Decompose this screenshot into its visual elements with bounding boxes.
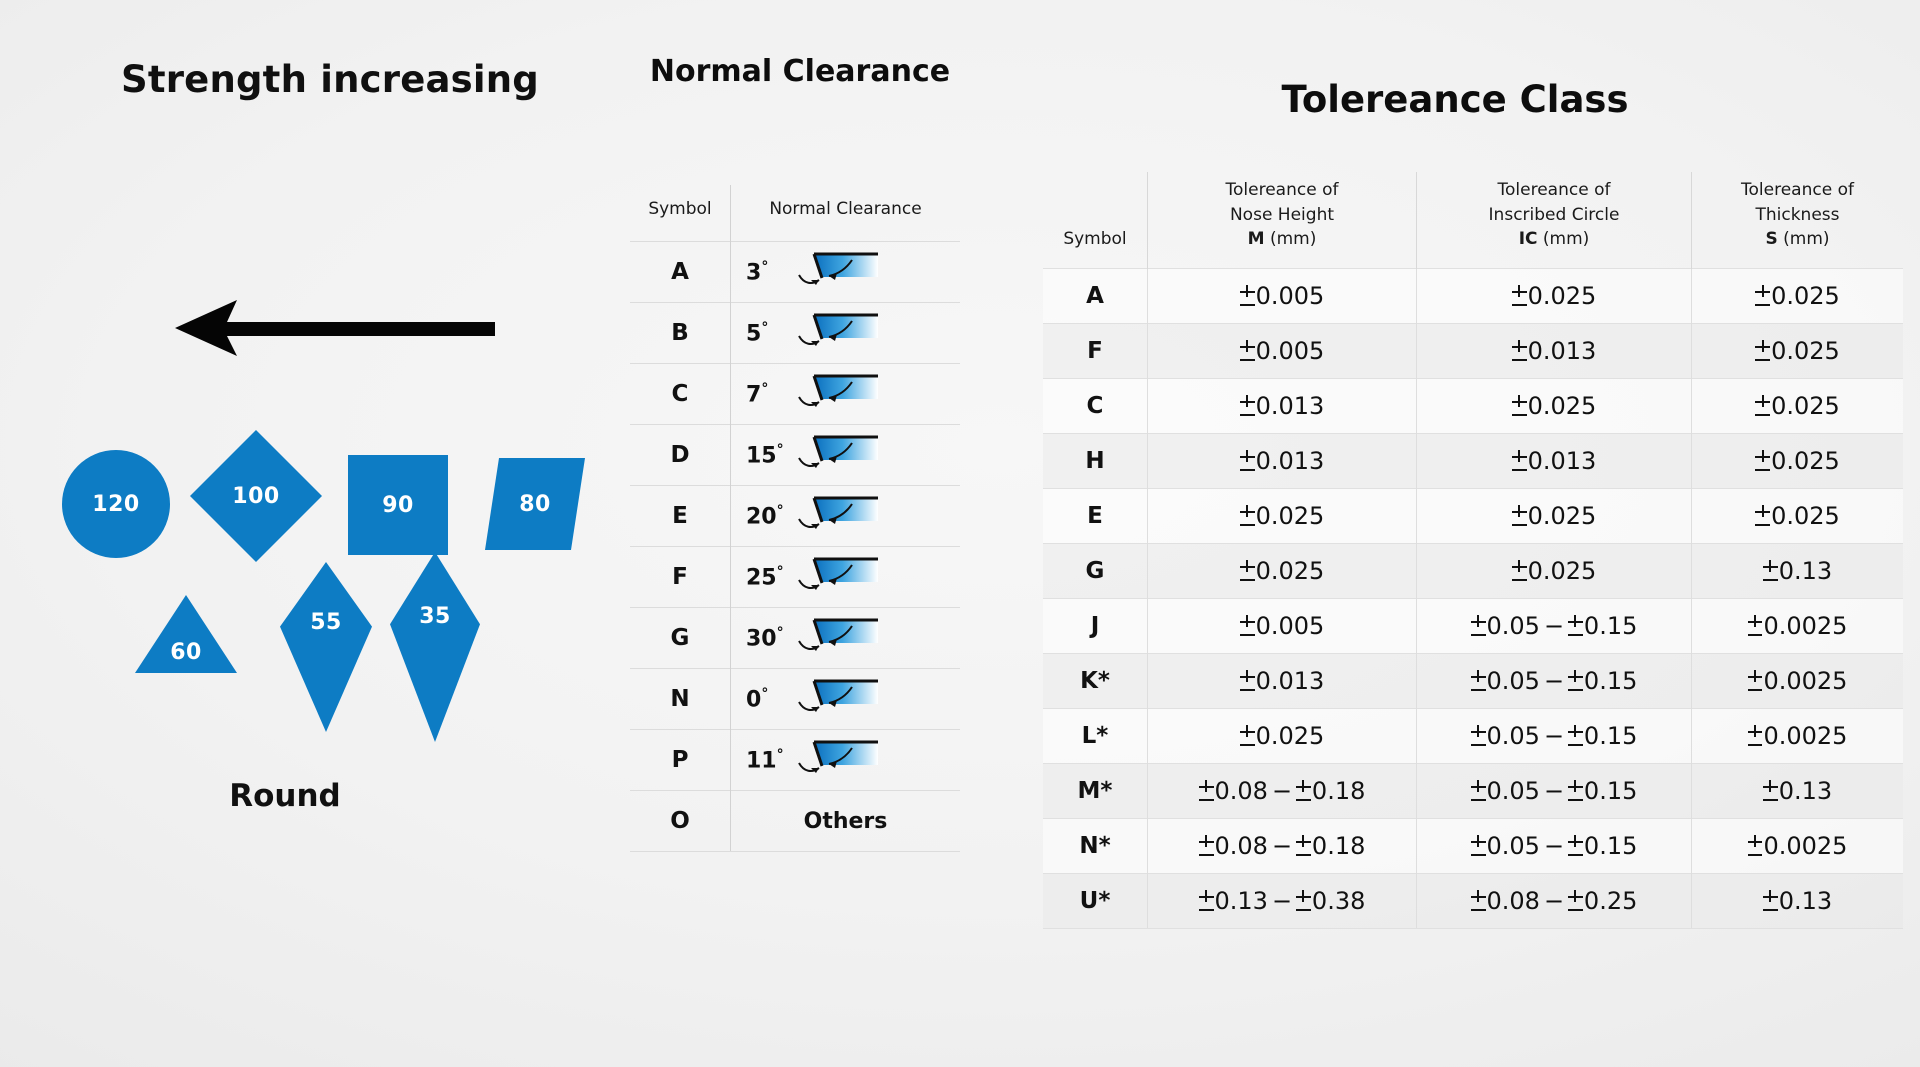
plus-minus-icon — [1512, 504, 1527, 528]
normal-clearance-panel: Normal Clearance Symbol Normal Clearance… — [660, 0, 1020, 1067]
table-row: B5° — [630, 303, 960, 364]
tolerance-inscribed-circle-cell: 0.05−0.15 — [1417, 708, 1692, 763]
shape-rhombus-55-fill — [280, 562, 372, 732]
shape-parallelogram-80: 80 — [485, 458, 585, 550]
tolerance-header-nose-height: Tolereance of Nose Height M (mm) — [1148, 172, 1417, 268]
clearance-value-cell: 25° — [731, 547, 961, 608]
round-caption: Round — [160, 778, 410, 814]
table-row: G0.0250.0250.13 — [1043, 543, 1903, 598]
plus-minus-icon — [1512, 284, 1527, 308]
tolerance-thickness-cell: 0.0025 — [1692, 653, 1904, 708]
header-line-1: Tolereance of — [1741, 180, 1854, 200]
clearance-header-value: Normal Clearance — [731, 185, 961, 242]
tolerance-header-thickness: Tolereance of Thickness S (mm) — [1692, 172, 1904, 268]
tolerance-symbol-cell: G — [1043, 543, 1148, 598]
table-row: C0.0130.0250.025 — [1043, 378, 1903, 433]
plus-minus-icon — [1199, 779, 1214, 803]
plus-minus-icon — [1748, 614, 1763, 638]
plus-minus-icon — [1755, 339, 1770, 363]
tolerance-symbol-cell: F — [1043, 323, 1148, 378]
plus-minus-icon — [1568, 889, 1583, 913]
plus-minus-icon — [1755, 284, 1770, 308]
tolerance-inscribed-circle-cell: 0.025 — [1417, 488, 1692, 543]
tolerance-nose-height-cell: 0.025 — [1148, 543, 1417, 598]
clearance-symbol-cell: G — [630, 608, 731, 669]
clearance-angle-icon — [798, 735, 882, 785]
tolerance-inscribed-circle-cell: 0.025 — [1417, 378, 1692, 433]
table-row: G30° — [630, 608, 960, 669]
shape-rhombus-35: 35 — [390, 552, 480, 742]
range-dash: − — [1540, 777, 1568, 805]
tolerance-symbol-cell: K* — [1043, 653, 1148, 708]
tolerance-symbol-cell: H — [1043, 433, 1148, 488]
range-dash: − — [1268, 777, 1296, 805]
header-line-2: Nose Height — [1230, 205, 1334, 225]
plus-minus-icon — [1199, 834, 1214, 858]
table-row: OOthers — [630, 791, 960, 852]
shape-square-90-fill — [348, 455, 448, 555]
table-header-row: Symbol Tolereance of Nose Height M (mm) … — [1043, 172, 1903, 268]
plus-minus-icon — [1512, 449, 1527, 473]
tolerance-inscribed-circle-cell: 0.05−0.15 — [1417, 818, 1692, 873]
range-dash: − — [1540, 722, 1568, 750]
plus-minus-icon — [1763, 779, 1778, 803]
clearance-angle-value: 11° — [746, 747, 798, 773]
table-header-row: Symbol Normal Clearance — [630, 185, 960, 242]
strength-increasing-title: Strength increasing — [0, 58, 660, 101]
plus-minus-icon — [1755, 394, 1770, 418]
tolerance-symbol-cell: M* — [1043, 763, 1148, 818]
tolerance-class-table: Symbol Tolereance of Nose Height M (mm) … — [1043, 172, 1903, 929]
clearance-angle-icon — [798, 552, 882, 602]
table-row: F25° — [630, 547, 960, 608]
header-unit: (mm) — [1543, 229, 1589, 249]
clearance-value-cell: 5° — [731, 303, 961, 364]
table-row: A0.0050.0250.025 — [1043, 268, 1903, 323]
clearance-angle-icon — [798, 308, 882, 358]
header-line-2: Thickness — [1755, 205, 1839, 225]
header-code: M — [1248, 229, 1265, 249]
tolerance-thickness-cell: 0.025 — [1692, 323, 1904, 378]
plus-minus-icon — [1748, 834, 1763, 858]
clearance-others-value: Others — [732, 809, 959, 834]
clearance-symbol-cell: C — [630, 364, 731, 425]
clearance-value-cell: Others — [731, 791, 961, 852]
plus-minus-icon — [1512, 339, 1527, 363]
tolerance-nose-height-cell: 0.013 — [1148, 378, 1417, 433]
plus-minus-icon — [1512, 559, 1527, 583]
plus-minus-icon — [1240, 669, 1255, 693]
tolerance-nose-height-cell: 0.013 — [1148, 653, 1417, 708]
range-dash: − — [1540, 667, 1568, 695]
clearance-value-cell: 20° — [731, 486, 961, 547]
tolerance-thickness-cell: 0.025 — [1692, 268, 1904, 323]
tolerance-thickness-cell: 0.0025 — [1692, 598, 1904, 653]
range-dash: − — [1268, 887, 1296, 915]
clearance-angle-icon — [798, 247, 882, 297]
tolerance-thickness-cell: 0.025 — [1692, 378, 1904, 433]
tolerance-inscribed-circle-cell: 0.013 — [1417, 323, 1692, 378]
clearance-value-cell: 0° — [731, 669, 961, 730]
plus-minus-icon — [1240, 559, 1255, 583]
tolerance-thickness-cell: 0.025 — [1692, 433, 1904, 488]
clearance-symbol-cell: D — [630, 425, 731, 486]
tolerance-nose-height-cell: 0.08−0.18 — [1148, 763, 1417, 818]
header-unit: (mm) — [1270, 229, 1316, 249]
tolerance-nose-height-cell: 0.005 — [1148, 598, 1417, 653]
clearance-symbol-cell: B — [630, 303, 731, 364]
clearance-value-cell: 30° — [731, 608, 961, 669]
plus-minus-icon — [1240, 284, 1255, 308]
header-code: IC — [1519, 229, 1538, 249]
plus-minus-icon — [1471, 834, 1486, 858]
clearance-value-cell: 3° — [731, 242, 961, 303]
tolerance-thickness-cell: 0.0025 — [1692, 818, 1904, 873]
plus-minus-icon — [1568, 834, 1583, 858]
tolerance-inscribed-circle-cell: 0.025 — [1417, 268, 1692, 323]
clearance-angle-icon — [798, 491, 882, 541]
plus-minus-icon — [1240, 449, 1255, 473]
tolerance-thickness-cell: 0.13 — [1692, 543, 1904, 598]
tolerance-symbol-cell: A — [1043, 268, 1148, 323]
range-dash: − — [1540, 612, 1568, 640]
tolerance-inscribed-circle-cell: 0.025 — [1417, 543, 1692, 598]
clearance-angle-value: 5° — [746, 320, 798, 346]
table-row: M*0.08−0.180.05−0.150.13 — [1043, 763, 1903, 818]
table-row: E0.0250.0250.025 — [1043, 488, 1903, 543]
tolerance-class-panel: Tolereance Class Symbol Tolereance of No… — [1035, 0, 1920, 1067]
plus-minus-icon — [1763, 889, 1778, 913]
shape-parallelogram-80-fill — [485, 458, 585, 550]
plus-minus-icon — [1471, 889, 1486, 913]
plus-minus-icon — [1471, 669, 1486, 693]
plus-minus-icon — [1296, 779, 1311, 803]
tolerance-symbol-cell: C — [1043, 378, 1148, 433]
tolerance-header-inscribed-circle: Tolereance of Inscribed Circle IC (mm) — [1417, 172, 1692, 268]
table-row: A3° — [630, 242, 960, 303]
table-row: D15° — [630, 425, 960, 486]
tolerance-nose-height-cell: 0.005 — [1148, 323, 1417, 378]
clearance-angle-icon — [798, 613, 882, 663]
tolerance-symbol-cell: E — [1043, 488, 1148, 543]
header-unit: (mm) — [1783, 229, 1829, 249]
tolerance-nose-height-cell: 0.13−0.38 — [1148, 873, 1417, 928]
clearance-value-cell: 15° — [731, 425, 961, 486]
plus-minus-icon — [1748, 669, 1763, 693]
range-dash: − — [1540, 832, 1568, 860]
tolerance-nose-height-cell: 0.025 — [1148, 708, 1417, 763]
shape-square-90: 90 — [348, 455, 448, 555]
table-row: E20° — [630, 486, 960, 547]
tolerance-header-symbol: Symbol — [1043, 172, 1148, 268]
tolerance-thickness-cell: 0.13 — [1692, 873, 1904, 928]
table-row: P11° — [630, 730, 960, 791]
range-dash: − — [1540, 887, 1568, 915]
clearance-angle-value: 25° — [746, 564, 798, 590]
clearance-header-symbol: Symbol — [630, 185, 731, 242]
tolerance-symbol-cell: U* — [1043, 873, 1148, 928]
tolerance-symbol-cell: J — [1043, 598, 1148, 653]
plus-minus-icon — [1240, 394, 1255, 418]
plus-minus-icon — [1240, 614, 1255, 638]
plus-minus-icon — [1512, 394, 1527, 418]
tolerance-symbol-cell: N* — [1043, 818, 1148, 873]
shape-triangle-60: 60 — [135, 595, 237, 673]
shape-triangle-60-fill — [135, 595, 237, 673]
plus-minus-icon — [1240, 724, 1255, 748]
strength-shapes-panel: Strength increasing 120 100 90 80 60 55 … — [0, 0, 660, 1067]
normal-clearance-table: Symbol Normal Clearance A3°B5°C7°D15°E20… — [630, 185, 960, 852]
table-row: N*0.08−0.180.05−0.150.0025 — [1043, 818, 1903, 873]
shape-diamond-100-fill — [190, 430, 322, 562]
plus-minus-icon — [1240, 339, 1255, 363]
tolerance-nose-height-cell: 0.08−0.18 — [1148, 818, 1417, 873]
clearance-angle-value: 3° — [746, 259, 798, 285]
plus-minus-icon — [1240, 504, 1255, 528]
plus-minus-icon — [1763, 559, 1778, 583]
clearance-value-cell: 11° — [731, 730, 961, 791]
tolerance-nose-height-cell: 0.005 — [1148, 268, 1417, 323]
plus-minus-icon — [1568, 779, 1583, 803]
strength-direction-arrow — [175, 300, 495, 356]
clearance-symbol-cell: N — [630, 669, 731, 730]
plus-minus-icon — [1748, 724, 1763, 748]
tolerance-thickness-cell: 0.13 — [1692, 763, 1904, 818]
plus-minus-icon — [1471, 614, 1486, 638]
table-row: L*0.0250.05−0.150.0025 — [1043, 708, 1903, 763]
table-row: H0.0130.0130.025 — [1043, 433, 1903, 488]
shape-diamond-100: 100 — [190, 430, 322, 562]
plus-minus-icon — [1755, 504, 1770, 528]
tolerance-inscribed-circle-cell: 0.05−0.15 — [1417, 763, 1692, 818]
tolerance-symbol-cell: L* — [1043, 708, 1148, 763]
shape-round-120-fill — [62, 450, 170, 558]
plus-minus-icon — [1568, 669, 1583, 693]
plus-minus-icon — [1755, 449, 1770, 473]
tolerance-nose-height-cell: 0.013 — [1148, 433, 1417, 488]
clearance-symbol-cell: A — [630, 242, 731, 303]
clearance-angle-value: 20° — [746, 503, 798, 529]
table-row: J0.0050.05−0.150.0025 — [1043, 598, 1903, 653]
clearance-symbol-cell: P — [630, 730, 731, 791]
tolerance-nose-height-cell: 0.025 — [1148, 488, 1417, 543]
header-line-2: Inscribed Circle — [1489, 205, 1620, 225]
clearance-angle-value: 7° — [746, 381, 798, 407]
header-code: S — [1765, 229, 1777, 249]
tolerance-class-title: Tolereance Class — [1035, 78, 1875, 121]
range-dash: − — [1268, 832, 1296, 860]
plus-minus-icon — [1471, 779, 1486, 803]
clearance-symbol-cell: E — [630, 486, 731, 547]
plus-minus-icon — [1296, 834, 1311, 858]
clearance-angle-icon — [798, 369, 882, 419]
plus-minus-icon — [1568, 724, 1583, 748]
clearance-angle-icon — [798, 674, 882, 724]
plus-minus-icon — [1568, 614, 1583, 638]
clearance-symbol-cell: O — [630, 791, 731, 852]
clearance-angle-value: 15° — [746, 442, 798, 468]
normal-clearance-title: Normal Clearance — [640, 52, 960, 93]
header-line-1: Tolereance of — [1226, 180, 1339, 200]
plus-minus-icon — [1199, 889, 1214, 913]
shape-rhombus-35-fill — [390, 552, 480, 742]
shape-rhombus-55: 55 — [280, 562, 372, 732]
clearance-symbol-cell: F — [630, 547, 731, 608]
table-row: F0.0050.0130.025 — [1043, 323, 1903, 378]
table-row: K*0.0130.05−0.150.0025 — [1043, 653, 1903, 708]
table-row: N0° — [630, 669, 960, 730]
plus-minus-icon — [1471, 724, 1486, 748]
header-line-1: Tolereance of — [1498, 180, 1611, 200]
tolerance-thickness-cell: 0.0025 — [1692, 708, 1904, 763]
table-row: C7° — [630, 364, 960, 425]
clearance-angle-value: 0° — [746, 686, 798, 712]
plus-minus-icon — [1296, 889, 1311, 913]
tolerance-inscribed-circle-cell: 0.05−0.15 — [1417, 653, 1692, 708]
clearance-angle-value: 30° — [746, 625, 798, 651]
table-row: U*0.13−0.380.08−0.250.13 — [1043, 873, 1903, 928]
shape-round-120: 120 — [62, 450, 170, 558]
tolerance-inscribed-circle-cell: 0.013 — [1417, 433, 1692, 488]
tolerance-inscribed-circle-cell: 0.08−0.25 — [1417, 873, 1692, 928]
tolerance-thickness-cell: 0.025 — [1692, 488, 1904, 543]
clearance-value-cell: 7° — [731, 364, 961, 425]
tolerance-inscribed-circle-cell: 0.05−0.15 — [1417, 598, 1692, 653]
clearance-angle-icon — [798, 430, 882, 480]
